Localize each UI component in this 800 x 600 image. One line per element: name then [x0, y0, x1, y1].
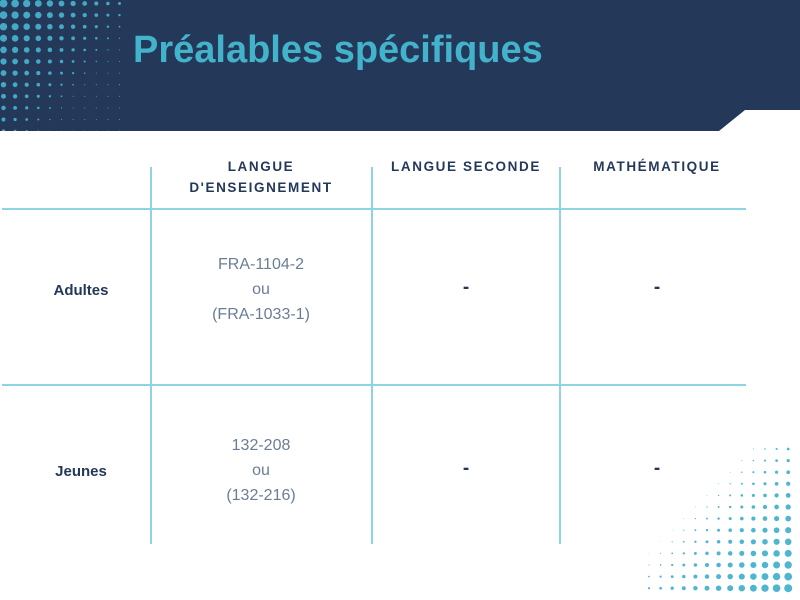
row-label-adultes: Adultes: [11, 282, 151, 299]
column-header-mathematique: MATHÉMATIQUE: [566, 157, 748, 178]
cell-adultes-langue-seconde: -: [379, 277, 553, 299]
cell-jeunes-langue-seconde: -: [379, 458, 553, 480]
table-row-divider: [2, 384, 746, 386]
header-bar: Préalables spécifiques: [0, 0, 800, 131]
column-header-langue-seconde: LANGUE SECONDE: [379, 157, 553, 178]
column-header-langue-enseignement: LANGUE D'ENSEIGNEMENT: [158, 157, 364, 199]
prerequisites-table: LANGUE D'ENSEIGNEMENT LANGUE SECONDE MAT…: [0, 131, 800, 600]
table-column-divider-1: [150, 167, 152, 544]
cell-adultes-mathematique: -: [566, 277, 748, 299]
cell-adultes-langue-enseignement: FRA-1104-2ou(FRA-1033-1): [158, 253, 364, 327]
cell-jeunes-langue-enseignement: 132-208ou(132-216): [158, 434, 364, 508]
page-title: Préalables spécifiques: [133, 28, 543, 74]
table-header-rule: [2, 208, 746, 210]
halftone-dots-decoration: [0, 0, 124, 131]
table-column-divider-2: [371, 167, 373, 544]
cell-jeunes-mathematique: -: [566, 458, 748, 480]
table-column-divider-3: [559, 167, 561, 544]
row-label-jeunes: Jeunes: [11, 463, 151, 480]
